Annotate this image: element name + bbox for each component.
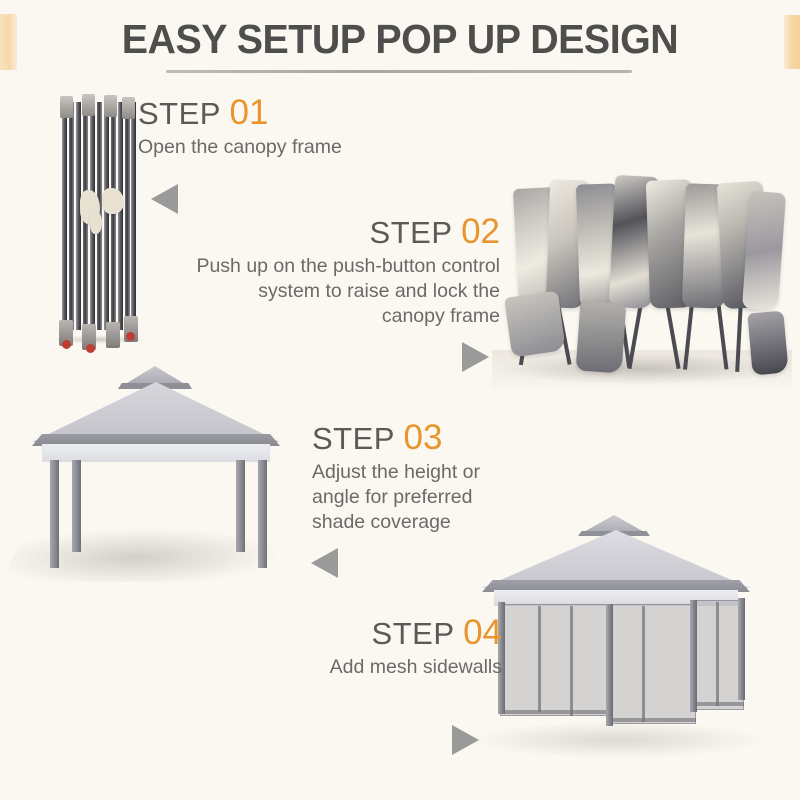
gazebo-post: [690, 600, 697, 712]
step-1-description: Open the canopy frame: [138, 135, 342, 160]
gazebo-roof: [482, 530, 750, 588]
step-2-block: STEP 02 Push up on the push-button contr…: [195, 214, 500, 329]
gazebo-post: [606, 604, 613, 726]
title-underline: [166, 70, 632, 73]
open-gazebo-photo: [14, 362, 294, 588]
pole-bundle: [60, 102, 136, 330]
partially-opened-canopy-photo: [492, 162, 792, 390]
step-3-arrow-left-icon: [311, 548, 338, 578]
step-3-heading: STEP 03: [312, 420, 522, 456]
gazebo-leg: [50, 460, 59, 568]
gazebo-leg: [236, 460, 245, 552]
step-1-heading: STEP 01: [138, 95, 342, 131]
step-2-description: Push up on the push-button control syste…: [195, 254, 500, 329]
step-1-label: STEP: [138, 96, 220, 131]
step-2-arrow-right-icon: [462, 342, 489, 372]
roof-vent: [582, 515, 646, 533]
step-2-label: STEP: [370, 215, 452, 250]
gazebo-leg: [258, 460, 267, 568]
page-title: EASY SETUP POP UP DESIGN: [16, 16, 784, 63]
step-1-number: 01: [230, 93, 269, 132]
step-4-number: 04: [463, 613, 502, 652]
gazebo-post: [738, 598, 745, 700]
step-4-arrow-right-icon: [452, 725, 479, 755]
gazebo-shadow: [472, 722, 762, 758]
right-accent-bar: [784, 15, 800, 69]
step-2-number: 02: [461, 212, 500, 251]
step-1-block: STEP 01 Open the canopy frame: [138, 95, 342, 160]
folded-canopy-frame-photo: [48, 92, 148, 342]
infographic-canvas: EASY SETUP POP UP DESIGN: [0, 0, 800, 800]
step-4-description: Add mesh sidewalls: [290, 655, 502, 680]
step-4-label: STEP: [372, 616, 454, 651]
step-1-arrow-left-icon: [151, 184, 178, 214]
canopy-shadow: [502, 354, 782, 384]
step-3-number: 03: [404, 418, 443, 457]
mesh-sidewall: [696, 600, 744, 710]
mesh-sidewall: [612, 604, 696, 724]
mesh-sidewall: [500, 604, 612, 716]
step-3-label: STEP: [312, 421, 394, 456]
gazebo-leg: [72, 460, 81, 552]
step-4-block: STEP 04 Add mesh sidewalls: [290, 615, 502, 680]
gazebo-roof: [32, 382, 280, 442]
gazebo-shadow: [1, 528, 295, 582]
step-2-heading: STEP 02: [195, 214, 500, 250]
left-accent-bar: [0, 14, 17, 70]
step-4-heading: STEP 04: [290, 615, 502, 651]
